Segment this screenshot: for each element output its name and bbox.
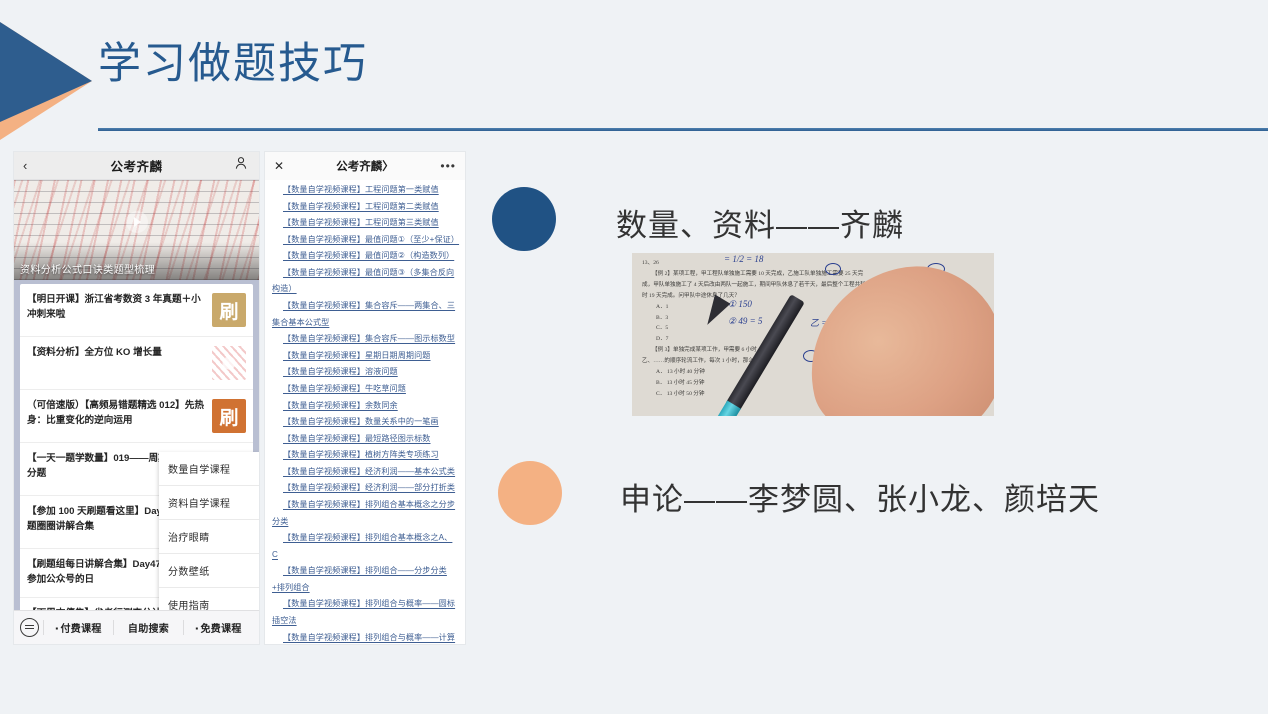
course-link[interactable]: 【数量自学视频课程】最短路径图示标数 bbox=[272, 431, 458, 448]
course-link[interactable]: 【数量自学视频课程】集合容斥——两集合、三集合基本公式型 bbox=[272, 298, 458, 331]
bullet-label-1: 数量、资料——齐麟 bbox=[616, 200, 904, 245]
list-item[interactable]: 【资料分析】全方位 KO 增长量 bbox=[20, 337, 253, 390]
bullet-marker-2 bbox=[498, 461, 562, 525]
menu-item-fenshubizhi[interactable]: 分数壁纸 bbox=[159, 554, 259, 588]
course-link[interactable]: 【数量自学视频课程】经济利润——部分打折类 bbox=[272, 480, 458, 497]
handwriting-photo: 13、26 【例 2】某项工程，甲工程队单独施工需要 10 天完成，乙施工队单独… bbox=[632, 253, 994, 416]
more-dots-icon[interactable]: ••• bbox=[438, 159, 456, 173]
ink-note-1: = 1/2 = 18 bbox=[724, 254, 763, 264]
course-link[interactable]: 【数量自学视频课程】牛吃草问题 bbox=[272, 381, 458, 398]
title-decoration-arrow bbox=[0, 22, 92, 140]
video-thumbnail[interactable]: 资料分析公式口诀类题型梳理 bbox=[14, 180, 259, 280]
course-link[interactable]: 【数量自学视频课程】植树方阵类专项练习 bbox=[272, 447, 458, 464]
course-link[interactable]: 【数量自学视频课程】工程问题第二类赋值 bbox=[272, 199, 458, 216]
course-link[interactable]: 【数量自学视频课程】余数同余 bbox=[272, 398, 458, 415]
course-link[interactable]: 【数量自学视频课程】排列组合基本概念之分步分类 bbox=[272, 497, 458, 530]
article-title: 【明日开课】浙江省考数资 3 年真题＋小冲刺来啦 bbox=[27, 293, 206, 323]
ink-circle bbox=[825, 263, 841, 275]
article-thumbnail: 刷 bbox=[212, 399, 246, 433]
course-link[interactable]: 【数量自学视频课程】最值问题③（多集合反向构造） bbox=[272, 265, 458, 298]
left-phone-title: 公考齐麟 bbox=[39, 156, 234, 175]
video-caption: 资料分析公式口诀类题型梳理 bbox=[20, 261, 155, 276]
nav-item-free-courses[interactable]: ▪免费课程 bbox=[183, 620, 253, 635]
back-icon[interactable]: ‹ bbox=[23, 158, 39, 173]
menu-item-zhiliaoyanjing[interactable]: 治疗眼睛 bbox=[159, 520, 259, 554]
keyboard-icon[interactable] bbox=[20, 618, 39, 637]
menu-item-ziliao[interactable]: 资料自学课程 bbox=[159, 486, 259, 520]
left-phone-header: ‹ 公考齐麟 bbox=[14, 152, 259, 180]
course-link[interactable]: 【数量自学视频课程】排列组合——分步分类+排列组合 bbox=[272, 563, 458, 596]
title-divider bbox=[98, 128, 1268, 131]
list-item[interactable]: 【明日开课】浙江省考数资 3 年真题＋小冲刺来啦 刷 bbox=[20, 284, 253, 337]
mid-phone-screenshot: ✕ 公考齐麟〉 ••• 【数量自学视频课程】工程问题第一类赋值【数量自学视频课程… bbox=[265, 152, 465, 644]
mid-phone-title: 公考齐麟〉 bbox=[292, 158, 438, 174]
course-link[interactable]: 【数量自学视频课程】星期日期周期问题 bbox=[272, 348, 458, 365]
person-icon[interactable] bbox=[234, 156, 250, 175]
course-link[interactable]: 【数量自学视频课程】工程问题第三类赋值 bbox=[272, 215, 458, 232]
play-icon[interactable] bbox=[126, 211, 148, 233]
course-link[interactable]: 【数量自学视频课程】数量关系中的一笔画 bbox=[272, 414, 458, 431]
nav-label: 付费课程 bbox=[60, 624, 101, 635]
course-link[interactable]: 【数量自学视频课程】最值问题②（构造数列） bbox=[272, 248, 458, 265]
article-thumbnail bbox=[212, 346, 246, 380]
menu-item-shuliang[interactable]: 数量自学课程 bbox=[159, 452, 259, 486]
video-course-link-list: 【数量自学视频课程】工程问题第一类赋值【数量自学视频课程】工程问题第二类赋值【数… bbox=[265, 180, 465, 644]
ink-note-3: ② 49 = 5 bbox=[728, 316, 762, 327]
nav-item-paid-courses[interactable]: ▪付费课程 bbox=[43, 620, 113, 635]
course-link[interactable]: 【数量自学视频课程】工程问题第一类赋值 bbox=[272, 182, 458, 199]
page-title: 学习做题技巧 bbox=[98, 40, 368, 89]
list-item[interactable]: （可倍速版）【高频易错题精选 012】先热身：比重变化的逆向运用 刷 bbox=[20, 390, 253, 443]
course-link[interactable]: 【数量自学视频课程】经济利润——基本公式类 bbox=[272, 464, 458, 481]
article-title: （可倍速版）【高频易错题精选 012】先热身：比重变化的逆向运用 bbox=[27, 399, 206, 429]
close-icon[interactable]: ✕ bbox=[274, 159, 292, 173]
bullet-label-2: 申论——李梦圆、张小龙、颜培天 bbox=[620, 474, 1100, 519]
bottom-nav-bar: ▪付费课程 自助搜索 ▪免费课程 bbox=[14, 610, 259, 644]
course-link[interactable]: 【数量自学视频课程】排列组合与概率——圆标插空法 bbox=[272, 596, 458, 629]
bullet-marker-1 bbox=[492, 187, 556, 251]
course-link[interactable]: 【数量自学视频课程】集合容斥——图示标数型 bbox=[272, 331, 458, 348]
popup-menu: 数量自学课程 资料自学课程 治疗眼睛 分数壁纸 使用指南 bbox=[159, 452, 259, 621]
left-phone-screenshot: ‹ 公考齐麟 资料分析公式口诀类题型梳理 【明日开课】浙江省考数资 3 年真题＋… bbox=[14, 152, 259, 644]
left-phone-body: 资料分析公式口诀类题型梳理 【明日开课】浙江省考数资 3 年真题＋小冲刺来啦 刷… bbox=[14, 180, 259, 644]
article-title: 【资料分析】全方位 KO 增长量 bbox=[27, 346, 206, 361]
nav-item-self-search[interactable]: 自助搜索 bbox=[113, 620, 183, 635]
nav-label: 自助搜索 bbox=[128, 624, 169, 635]
article-thumbnail: 刷 bbox=[212, 293, 246, 327]
nav-label: 免费课程 bbox=[200, 624, 241, 635]
mid-phone-header: ✕ 公考齐麟〉 ••• bbox=[265, 152, 465, 180]
course-link[interactable]: 【数量自学视频课程】溶液问题 bbox=[272, 364, 458, 381]
ink-note-2: ① 150 bbox=[728, 299, 752, 310]
course-link[interactable]: 【数量自学视频课程】最值问题①（至少+保证） bbox=[272, 232, 458, 249]
course-link[interactable]: 【数量自学视频课程】排列组合与概率——计算反面 bbox=[272, 630, 458, 644]
course-link[interactable]: 【数量自学视频课程】排列组合基本概念之A、C bbox=[272, 530, 458, 563]
